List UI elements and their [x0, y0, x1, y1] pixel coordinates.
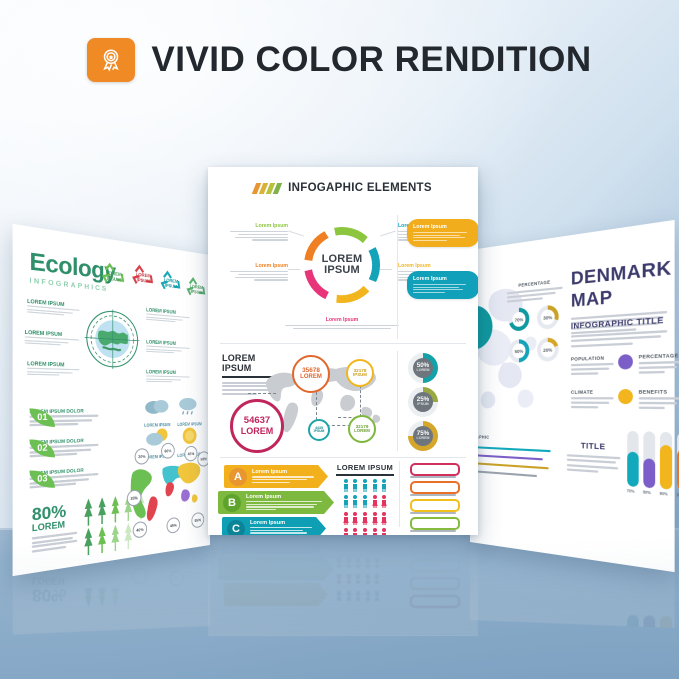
pill-caption — [410, 476, 456, 478]
eco-callout: LOREM IPSUM — [25, 329, 80, 346]
pill-badge — [410, 481, 460, 494]
tree-row — [84, 523, 133, 556]
map-percent-badge: 55% — [191, 512, 204, 529]
weather-icon-rain: LOREM IPSUM — [177, 395, 201, 427]
person-icon — [372, 528, 378, 535]
poster-center-infographic[interactable]: INFOGAPHIC ELEMENTS LOREM IPSUM Lorem Ip… — [208, 167, 478, 535]
tube-bar — [660, 432, 672, 490]
step-title-c: Lorem Ipsum — [250, 520, 312, 526]
page-title: VIVID COLOR RENDITION — [151, 40, 591, 80]
column-divider — [397, 351, 398, 451]
leaf-step: 01 LOREM IPSUM DOLOR — [29, 408, 98, 427]
pill-badge — [410, 463, 460, 476]
center-poster-title: INFOGAPHIC ELEMENTS — [288, 182, 432, 194]
person-icon — [372, 479, 378, 492]
person-icon — [352, 512, 358, 525]
right-item: CLIMATE — [571, 389, 614, 408]
dashed-connector — [248, 393, 276, 394]
item-dot — [618, 389, 633, 404]
h-bar — [470, 462, 549, 470]
person-icon — [343, 495, 349, 508]
pill-badge — [410, 517, 460, 530]
pill-badge — [410, 499, 460, 512]
eco-callout: LOREM IPSUM — [146, 307, 189, 324]
tag-card[interactable]: Lorem Ipsum — [407, 219, 478, 247]
person-icon — [381, 495, 387, 508]
h-bar — [470, 454, 543, 461]
recycle-badge: LOREMIPSUM — [101, 260, 127, 290]
eco-callout: LOREM IPSUM — [146, 339, 189, 354]
people-pictogram-chart: LOREM IPSUM — [336, 463, 394, 535]
person-icon — [381, 479, 387, 492]
right-item: PERCENTAGE — [639, 352, 679, 373]
tag-card[interactable]: Lorem Ipsum — [407, 271, 478, 299]
recycle-badge: LOREMIPSUM — [131, 262, 156, 291]
cycle-donut-chart: LOREM IPSUM — [296, 219, 388, 311]
tube-label: 90% — [658, 491, 670, 497]
item-dot — [618, 354, 633, 369]
eco-callout: LOREM IPSUM — [27, 360, 79, 376]
recycle-badge: LOREMIPSUM — [185, 275, 207, 302]
person-icon — [362, 479, 368, 492]
weather-icon-cloud: LOREM IPSUM — [144, 395, 170, 428]
denmark-title: DENMARK MAP — [571, 257, 667, 312]
map-pin-large[interactable]: 54637 LOREM — [230, 399, 284, 453]
cycle-center-label: LOREM IPSUM — [313, 236, 371, 294]
person-icon — [372, 495, 378, 508]
map-percent-badge: 40% — [133, 521, 147, 539]
recycle-badge: LOREMIPSUM — [159, 268, 182, 296]
person-icon — [372, 512, 378, 525]
center-poster-header: INFOGAPHIC ELEMENTS — [208, 167, 478, 194]
percent-donut: 25%IPSUM — [408, 387, 438, 417]
eco-stat: 80% LOREM — [32, 502, 77, 553]
tube-label: 70% — [625, 488, 636, 494]
people-row — [336, 512, 394, 525]
step-banner-b[interactable]: B Lorem Ipsum — [218, 491, 334, 514]
person-icon — [343, 512, 349, 525]
callout-leader — [380, 269, 392, 270]
person-icon — [381, 512, 387, 525]
people-row — [336, 479, 394, 492]
map-pin-medium[interactable]: 35678 LOREM — [292, 355, 330, 393]
tube-bar — [643, 431, 655, 488]
person-icon — [343, 528, 349, 535]
poster-right-denmark[interactable]: PERCENTAGE 70% 30% 50% 20% DENMARK MAP — [470, 220, 675, 572]
map-pin-small[interactable]: 32179 LOREM — [348, 415, 376, 443]
eco-callout: LOREM IPSUM — [146, 369, 189, 383]
pill-caption — [410, 512, 456, 514]
people-heading: LOREM IPSUM — [336, 463, 394, 472]
h-bar — [470, 446, 551, 453]
people-row — [336, 495, 394, 508]
step-banner-c[interactable]: C Lorem Ipsum — [222, 517, 326, 535]
step-letter-c: C — [227, 520, 245, 536]
people-row — [336, 528, 394, 535]
section-divider — [220, 343, 466, 344]
column-divider — [399, 461, 400, 527]
map-percent-badge: 45% — [167, 517, 180, 534]
leaf-step: 02 LOREM IPSUM DOLOR — [29, 437, 98, 458]
screenshot-stage: VIVID COLOR RENDITION Ecology INFOGRAPHI… — [0, 0, 679, 679]
leaf-step: 03 LOREM IPSUM DOLOR — [29, 466, 98, 489]
map-pin-small[interactable]: 32178 IPSUM — [346, 359, 374, 387]
callout-leader — [288, 269, 300, 270]
pill-caption — [410, 530, 456, 532]
person-icon — [352, 479, 358, 492]
title-heading: TITLE — [567, 440, 621, 453]
percent-donut: 50%LOREM — [408, 353, 438, 383]
person-icon — [352, 495, 358, 508]
percent-donut: 75%LOREM — [408, 421, 438, 451]
column-divider — [397, 215, 398, 339]
step-letter-b: B — [223, 494, 241, 512]
globe-illustration — [84, 306, 141, 371]
right-item: POPULATION — [571, 355, 614, 375]
cycle-callout: Lorem Ipsum — [230, 263, 288, 282]
step-letter-a: A — [229, 468, 247, 486]
diagonal-stripes-logo — [254, 183, 280, 194]
map-pin-tiny[interactable]: 4435 IPSUM — [308, 419, 330, 441]
person-icon — [362, 528, 368, 535]
person-icon — [362, 495, 368, 508]
tube-label: 50% — [641, 490, 653, 496]
poster-left-ecology[interactable]: Ecology INFOGRAPHICS LOREMIPSUM LOREMIPS… — [13, 224, 210, 576]
section-divider — [220, 457, 466, 458]
cycle-callout: Lorem Ipsum — [230, 223, 288, 242]
page-header: VIVID COLOR RENDITION — [0, 28, 679, 92]
award-rosette-icon — [87, 38, 135, 82]
eco-callout: LOREM IPSUM — [27, 298, 79, 317]
pill-caption — [410, 494, 456, 496]
tube-bar — [627, 431, 638, 488]
step-title-b: Lorem Ipsum — [246, 494, 322, 500]
person-icon — [381, 528, 387, 535]
h-bar — [470, 470, 537, 478]
person-icon — [362, 512, 368, 525]
person-icon — [343, 479, 349, 492]
cycle-callout: Lorem Ipsum — [285, 317, 399, 331]
step-title-a: Lorem Ipsum — [252, 469, 314, 475]
person-icon — [352, 528, 358, 535]
right-item: BENEFITS — [639, 389, 679, 410]
step-banner-a[interactable]: A Lorem Ipsum — [224, 465, 328, 488]
